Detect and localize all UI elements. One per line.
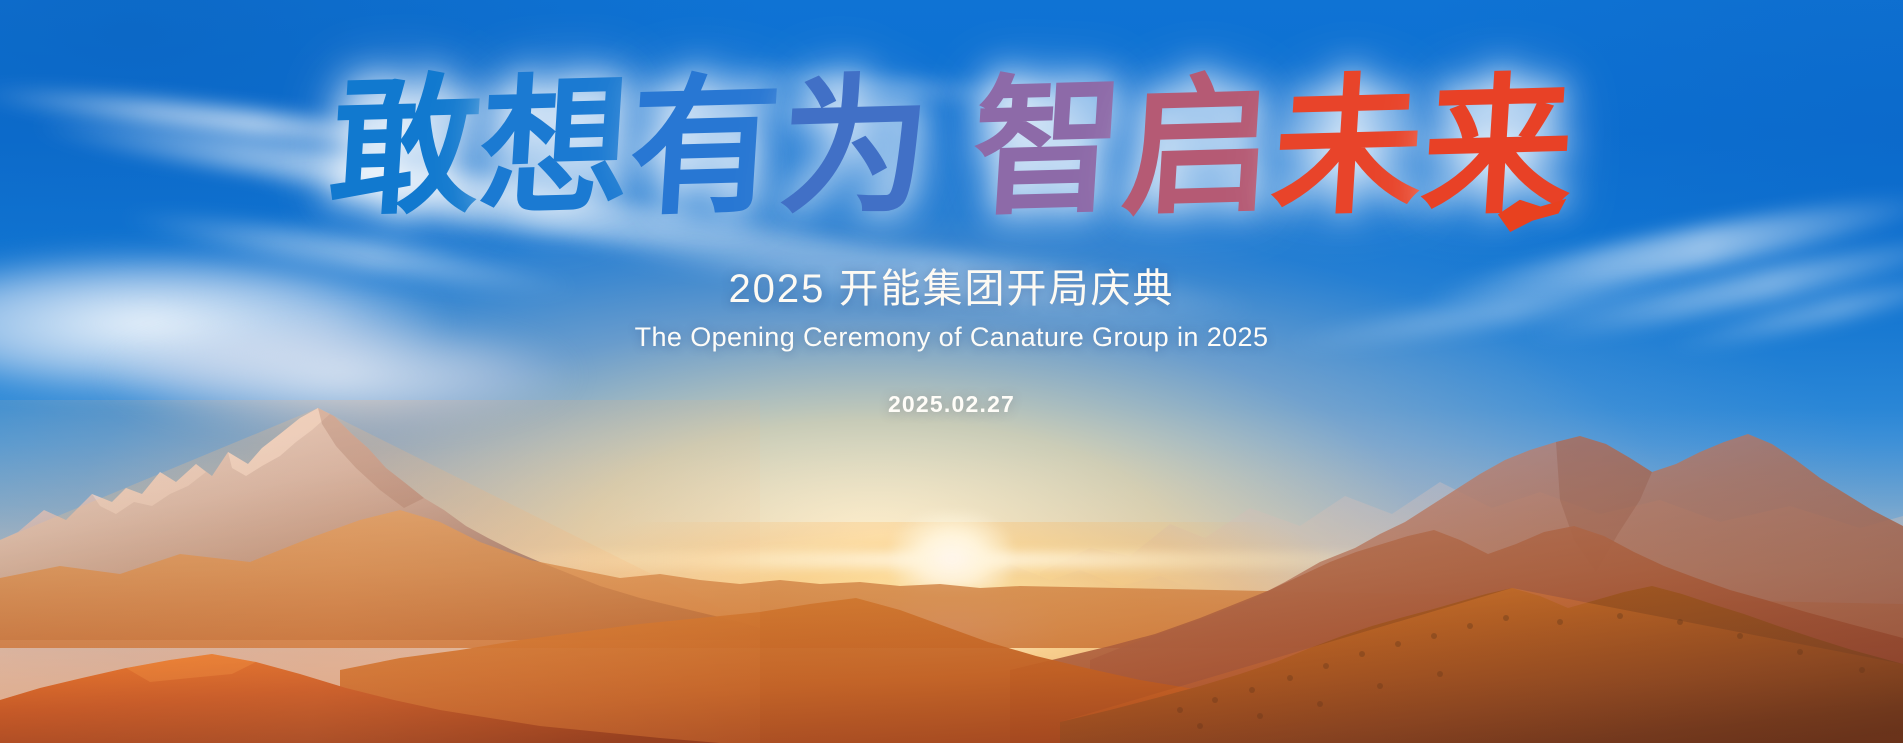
calligraphy-glyph-1: 敢	[326, 70, 486, 224]
subtitle-chinese: 2025 开能集团开局庆典	[0, 262, 1903, 316]
calligraphy-glyph-3: 有	[626, 70, 786, 224]
mountain-layer-right-front	[0, 582, 1903, 743]
headline-calligraphy: 敢 想 有 为 智 启 未 来	[0, 72, 1903, 222]
subtitle-english: The Opening Ceremony of Canature Group i…	[0, 322, 1903, 353]
calligraphy-glyph-7: 未	[1268, 70, 1428, 224]
event-date: 2025.02.27	[0, 391, 1903, 418]
calligraphy-glyph-8: 来	[1418, 70, 1578, 224]
calligraphy-glyph-6: 启	[1118, 70, 1278, 224]
celebration-banner: 敢 想 有 为 智 启 未 来 2025 开能集团开局庆典 The Openin…	[0, 0, 1903, 743]
calligraphy-glyph-2: 想	[476, 70, 636, 224]
title-text-block: 2025 开能集团开局庆典 The Opening Ceremony of Ca…	[0, 262, 1903, 418]
calligraphy-glyph-5: 智	[968, 70, 1128, 224]
calligraphy-glyph-4: 为	[776, 70, 936, 224]
